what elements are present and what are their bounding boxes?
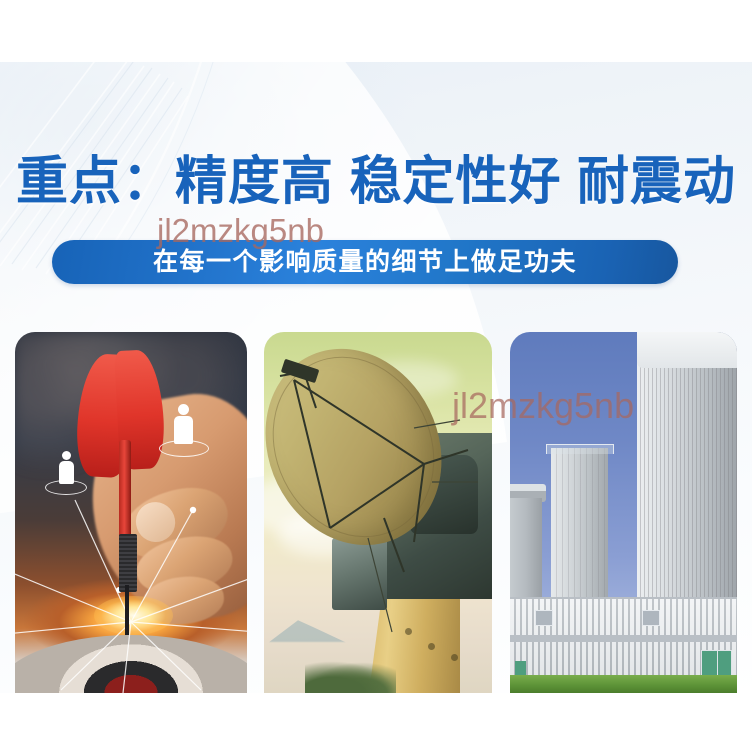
small-silo [551,448,608,603]
promo-banner-page: 重点：精度高 稳定性好 耐震动 在每一个影响质量的细节上做足功夫 jl2mzkg… [0,0,752,752]
top-white-strip [0,0,752,62]
window-left [535,610,553,626]
dart-precision-photo [15,332,247,693]
photo-card-dart[interactable] [15,332,247,693]
bottom-white-area [0,693,752,752]
silo-railing [546,444,614,454]
person-icon-left [45,451,87,495]
industrial-silos-photo [510,332,737,693]
large-silo [637,332,737,599]
person-icon-right [159,404,209,457]
dart-barrel [119,534,136,592]
dish-support-struts [264,332,492,693]
window-right [642,610,660,626]
page-title: 重点：精度高 稳定性好 耐震动 [0,152,752,212]
satellite-dish-photo [264,332,492,693]
dart-shaft [119,440,131,541]
grass-strip [510,675,737,693]
dart-point [125,585,128,636]
subtitle-banner-label: 在每一个影响质量的细节上做足功夫 [153,240,577,284]
subtitle-banner: 在每一个影响质量的细节上做足功夫 [52,240,678,284]
photo-card-satellite[interactable] [264,332,492,693]
photo-card-factory[interactable] [510,332,737,693]
photo-card-row [0,332,752,693]
green-window [701,650,733,677]
